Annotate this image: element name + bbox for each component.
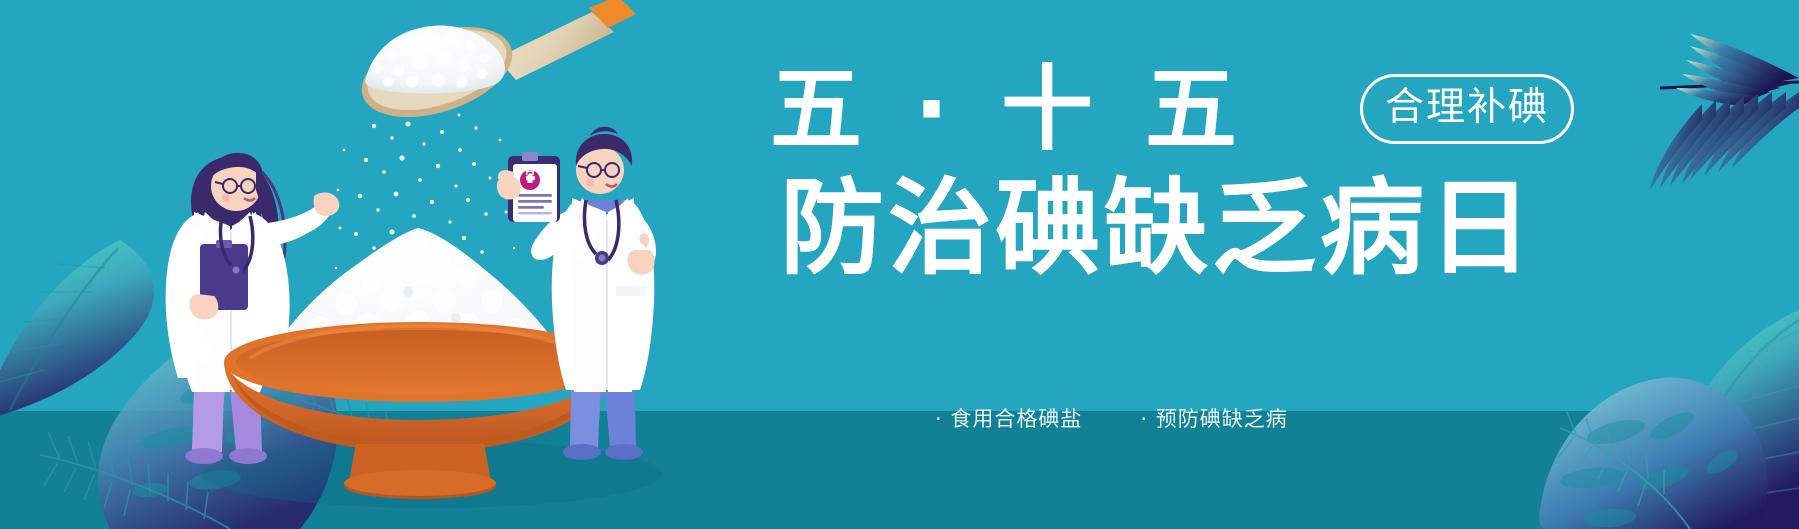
slogan-badge: 合理补碘 bbox=[1360, 74, 1574, 144]
iodine-day-banner: 五 · 十 五 合理补碘 防治碘缺乏病日 · 食用合格碘盐 · 预防碘缺乏病 bbox=[0, 0, 1799, 529]
main-headline: 防治碘缺乏病日 bbox=[780, 172, 1536, 284]
background-ground bbox=[0, 411, 1799, 529]
tagline-item-1: · 预防碘缺乏病 bbox=[1140, 403, 1287, 433]
tagline-list: · 食用合格碘盐 · 预防碘缺乏病 bbox=[935, 398, 1455, 438]
date-text: 五 · 十 五 bbox=[770, 62, 1247, 158]
headline-block: 五 · 十 五 合理补碘 防治碘缺乏病日 bbox=[770, 62, 1630, 322]
tagline-item-0: · 食用合格碘盐 bbox=[935, 403, 1082, 433]
